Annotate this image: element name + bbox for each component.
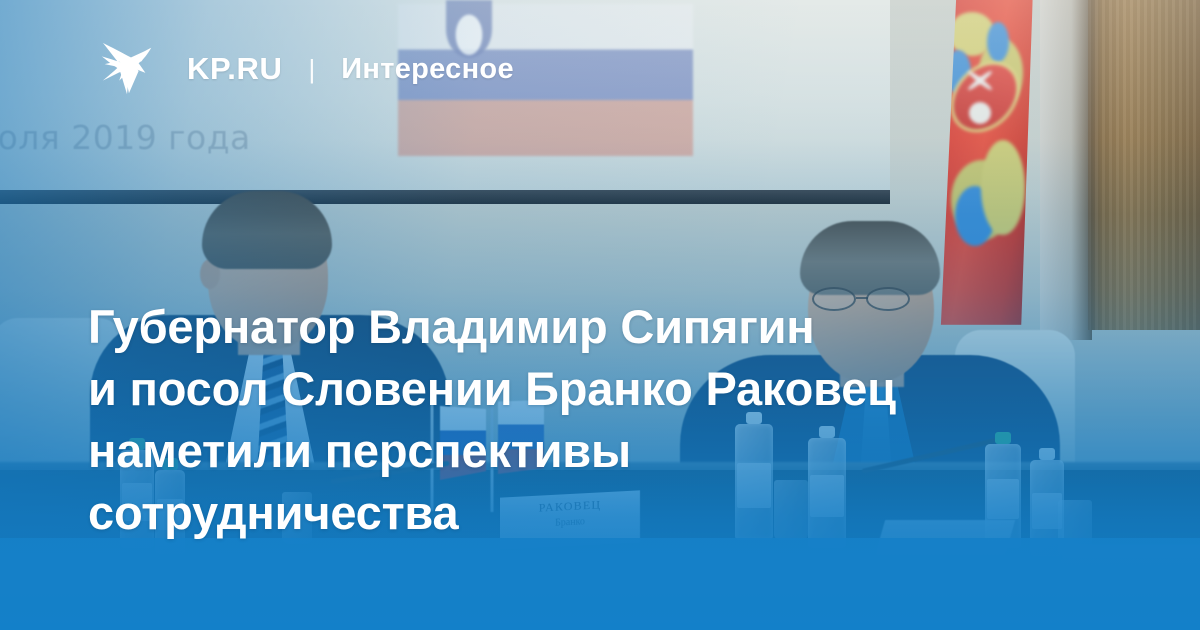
headline: Губернатор Владимир Сипягин и посол Слов… (88, 296, 1128, 544)
kp-swallow-bird-icon[interactable] (96, 38, 158, 100)
headline-line-2: и посол Словении Бранко Раковец (88, 358, 1128, 420)
share-card: юля 2019 года (0, 0, 1200, 630)
header-divider: | (308, 56, 315, 82)
section-label[interactable]: Интересное (341, 53, 514, 86)
brand-header: KP.RU | Интересное (96, 38, 514, 100)
headline-line-4: сотрудничества (88, 482, 1128, 544)
brand-name[interactable]: KP.RU (187, 51, 282, 87)
bottom-blue-bar (0, 538, 1200, 630)
headline-line-3: наметили перспективы (88, 420, 1128, 482)
headline-line-1: Губернатор Владимир Сипягин (88, 296, 1128, 358)
